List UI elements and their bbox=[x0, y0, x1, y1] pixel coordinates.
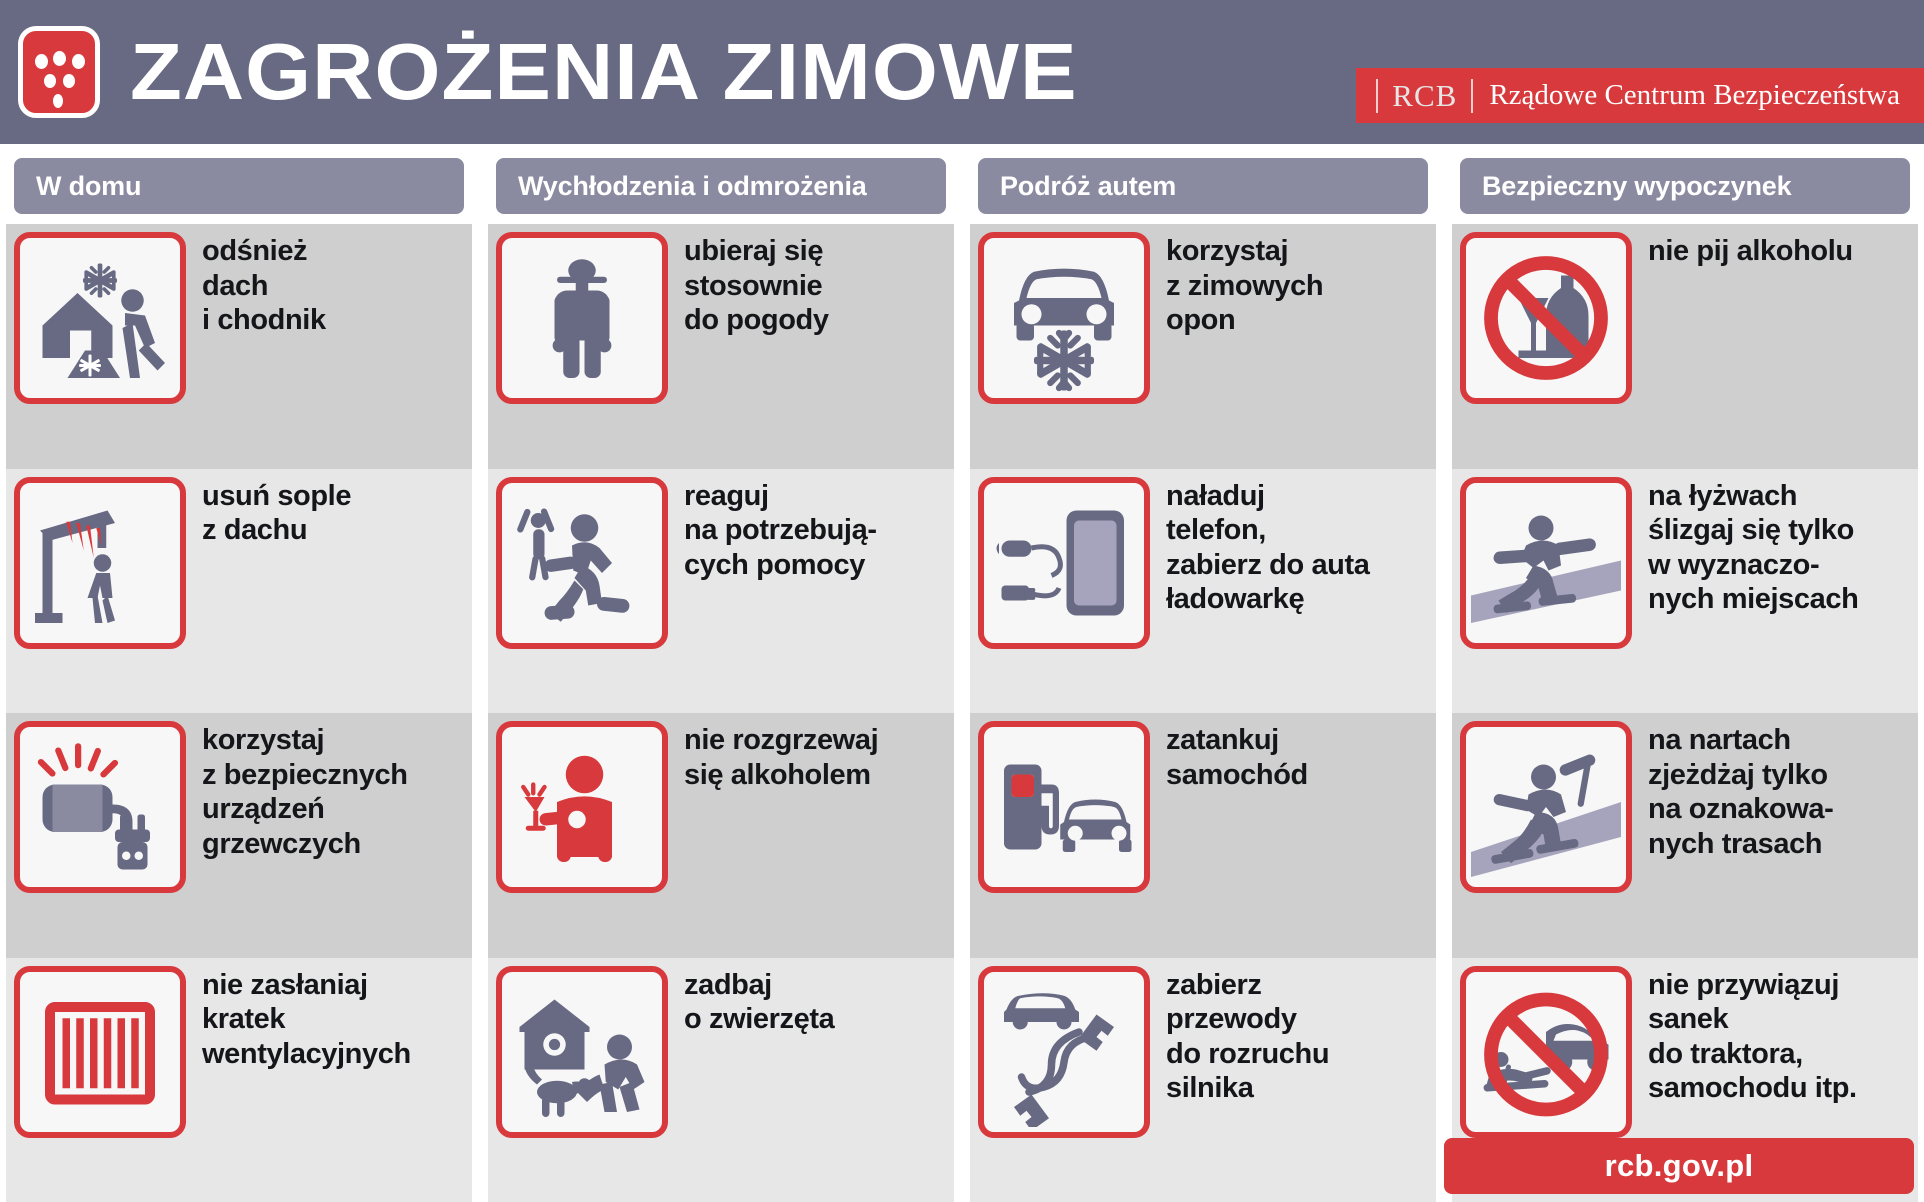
column-wychlodzenia: Wychłodzenia i odmrożenia bbox=[488, 144, 954, 1202]
column-header-label: W domu bbox=[36, 171, 141, 202]
hazard-columns: W domu bbox=[0, 144, 1924, 1202]
ice-skater-icon bbox=[1460, 477, 1632, 649]
list-item-label: reaguj na potrzebują- cych pomocy bbox=[668, 477, 948, 583]
list-item: na nartach zjeżdżaj tylko na oznakowa- n… bbox=[1452, 713, 1918, 958]
list-item: usuń sople z dachu bbox=[6, 469, 472, 714]
list-item-label: na łyżwach ślizgaj się tylko w wyznaczo-… bbox=[1632, 477, 1912, 617]
rcb-abbreviation: RCB bbox=[1378, 78, 1471, 114]
car-snowflake-winter-tyres-icon bbox=[978, 232, 1150, 404]
no-sled-towing-icon bbox=[1460, 966, 1632, 1138]
column-header-label: Bezpieczny wypoczynek bbox=[1482, 171, 1791, 202]
list-item: zatankuj samochód bbox=[970, 713, 1436, 958]
list-item-label: nie zasłaniaj kratek wentylacyjnych bbox=[186, 966, 466, 1072]
list-item: korzystaj z bezpiecznych urządzeń grzewc… bbox=[6, 713, 472, 958]
column-body: korzystaj z zimowych opon bbox=[970, 224, 1436, 1202]
list-item-label: naładuj telefon, zabierz do auta ładowar… bbox=[1150, 477, 1430, 617]
rcb-website-button[interactable]: rcb.gov.pl bbox=[1444, 1138, 1914, 1194]
list-item-label: nie rozgrzewaj się alkoholem bbox=[668, 721, 948, 792]
list-item-label: odśnież dach i chodnik bbox=[186, 232, 466, 338]
column-body: odśnież dach i chodnik bbox=[6, 224, 472, 1202]
list-item: nie rozgrzewaj się alkoholem bbox=[488, 713, 954, 958]
list-item-label: ubieraj się stosownie do pogody bbox=[668, 232, 948, 338]
rcb-branding: RCB Rządowe Centrum Bezpieczeństwa bbox=[1356, 68, 1924, 123]
column-bezpieczny-wypoczynek: Bezpieczny wypoczynek ni bbox=[1452, 144, 1918, 1202]
fuel-pump-car-icon bbox=[978, 721, 1150, 893]
list-item-label: nie pij alkoholu bbox=[1632, 232, 1912, 269]
winter-hazards-poster: ZAGROŻENIA ZIMOWE RCB Rządowe Centrum Be… bbox=[0, 0, 1924, 1202]
column-header-label: Podróż autem bbox=[1000, 171, 1176, 202]
list-item-label: korzystaj z zimowych opon bbox=[1150, 232, 1430, 338]
list-item-label: zabierz przewody do rozruchu silnika bbox=[1150, 966, 1430, 1106]
person-helping-running-icon bbox=[496, 477, 668, 649]
list-item: zabierz przewody do rozruchu silnika bbox=[970, 958, 1436, 1202]
list-item-label: korzystaj z bezpiecznych urządzeń grzewc… bbox=[186, 721, 466, 861]
list-item: na łyżwach ślizgaj się tylko w wyznaczo-… bbox=[1452, 469, 1918, 714]
list-item: zadbaj o zwierzęta bbox=[488, 958, 954, 1202]
column-w-domu: W domu bbox=[6, 144, 472, 1202]
list-item-label: nie przywiązuj sanek do traktora, samoch… bbox=[1632, 966, 1912, 1106]
column-body: ubieraj się stosownie do pogody bbox=[488, 224, 954, 1202]
no-alcohol-person-icon bbox=[496, 721, 668, 893]
heater-plug-socket-icon bbox=[14, 721, 186, 893]
list-item: nie pij alkoholu bbox=[1452, 224, 1918, 469]
column-header-podroz-autem: Podróż autem bbox=[978, 158, 1428, 214]
list-item: ubieraj się stosownie do pogody bbox=[488, 224, 954, 469]
rcb-full-name: Rządowe Centrum Bezpieczeństwa bbox=[1473, 79, 1900, 112]
list-item-label: na nartach zjeżdżaj tylko na oznakowa- n… bbox=[1632, 721, 1912, 861]
column-header-wychlodzenia: Wychłodzenia i odmrożenia bbox=[496, 158, 946, 214]
list-item: naładuj telefon, zabierz do auta ładowar… bbox=[970, 469, 1436, 714]
ventilation-grille-icon bbox=[14, 966, 186, 1138]
icicles-roof-icon bbox=[14, 477, 186, 649]
no-alcohol-bottle-glass-icon bbox=[1460, 232, 1632, 404]
person-dressed-warm-icon bbox=[496, 232, 668, 404]
column-podroz-autem: Podróż autem bbox=[970, 144, 1436, 1202]
column-header-bezpieczny-wypoczynek: Bezpieczny wypoczynek bbox=[1460, 158, 1910, 214]
column-header-w-domu: W domu bbox=[14, 158, 464, 214]
skier-downhill-icon bbox=[1460, 721, 1632, 893]
poster-header: ZAGROŻENIA ZIMOWE RCB Rządowe Centrum Be… bbox=[0, 0, 1924, 144]
list-item-label: zadbaj o zwierzęta bbox=[668, 966, 948, 1037]
column-body: nie pij alkoholu bbox=[1452, 224, 1918, 1202]
list-item-label: usuń sople z dachu bbox=[186, 477, 466, 548]
page-title: ZAGROŻENIA ZIMOWE bbox=[130, 32, 1078, 112]
house-snow-shoveling-icon bbox=[14, 232, 186, 404]
footer-url-label: rcb.gov.pl bbox=[1605, 1148, 1754, 1184]
list-item: odśnież dach i chodnik bbox=[6, 224, 472, 469]
phone-charger-icon bbox=[978, 477, 1150, 649]
list-item: reaguj na potrzebują- cych pomocy bbox=[488, 469, 954, 714]
list-item: nie zasłaniaj kratek wentylacyjnych bbox=[6, 958, 472, 1202]
column-header-label: Wychłodzenia i odmrożenia bbox=[518, 171, 867, 202]
jumper-cables-icon bbox=[978, 966, 1150, 1138]
rcb-dots-badge-icon bbox=[18, 26, 100, 118]
list-item: korzystaj z zimowych opon bbox=[970, 224, 1436, 469]
list-item-label: zatankuj samochód bbox=[1150, 721, 1430, 792]
pet-dog-kennel-icon bbox=[496, 966, 668, 1138]
